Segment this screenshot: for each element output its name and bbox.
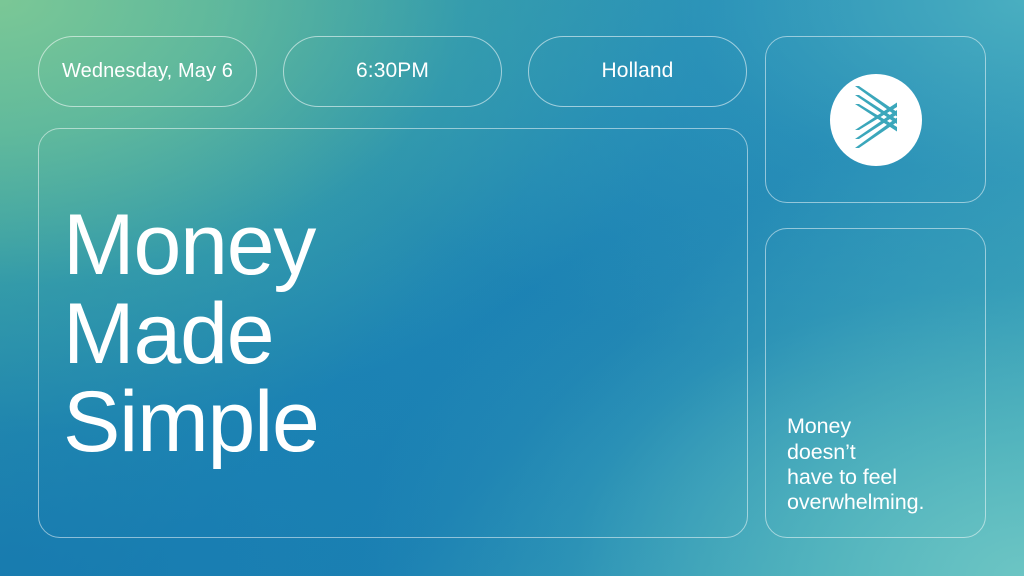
headline-card: Money Made Simple bbox=[38, 128, 748, 538]
event-poster: Wednesday, May 6 6:30PM Holland Money Ma… bbox=[0, 0, 1024, 576]
logo-badge bbox=[830, 74, 922, 166]
event-location-pill: Holland bbox=[528, 36, 747, 107]
event-date-pill: Wednesday, May 6 bbox=[38, 36, 257, 107]
event-time-pill: 6:30PM bbox=[283, 36, 502, 107]
event-time-label: 6:30PM bbox=[356, 59, 429, 84]
event-date-label: Wednesday, May 6 bbox=[62, 60, 233, 84]
double-chevron-right-icon bbox=[849, 85, 903, 154]
quote-text: Money doesn’t have to feel overwhelming. bbox=[787, 414, 975, 515]
event-details-pill-row: Wednesday, May 6 6:30PM Holland bbox=[38, 36, 747, 107]
headline-title: Money Made Simple bbox=[63, 201, 319, 467]
quote-card: Money doesn’t have to feel overwhelming. bbox=[765, 228, 986, 538]
logo-card bbox=[765, 36, 986, 203]
event-location-label: Holland bbox=[602, 59, 674, 84]
